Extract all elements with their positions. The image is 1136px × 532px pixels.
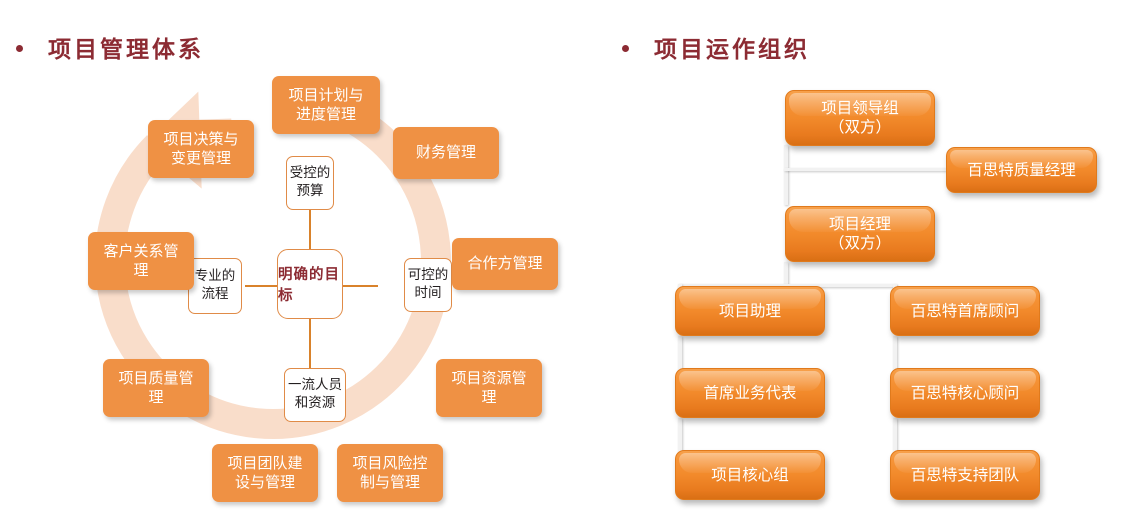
outer-node-resource[interactable]: 项目资源管 理 <box>436 359 542 417</box>
org-node-business-rep-label: 首席业务代表 <box>703 384 796 403</box>
outer-node-finance-label: 财务管理 <box>416 143 476 162</box>
org-node-chief-consultant[interactable]: 百思特首席顾问 <box>890 286 1040 336</box>
outer-node-risk[interactable]: 项目风险控 制与管理 <box>337 444 443 502</box>
org-node-core-consultant[interactable]: 百思特核心顾问 <box>890 368 1040 418</box>
connector-leadership-to-quality-manager <box>784 168 946 171</box>
outer-node-risk-label: 项目风险控 制与管理 <box>352 454 427 492</box>
org-node-quality-manager[interactable]: 百思特质量经理 <box>946 147 1097 193</box>
outer-node-decision-label: 项目决策与 变更管理 <box>163 130 238 168</box>
outer-node-partner-label: 合作方管理 <box>467 254 542 273</box>
org-node-project-manager[interactable]: 项目经理 （双方） <box>785 206 935 262</box>
connector-business-rep-to-core-team <box>678 418 682 454</box>
project-management-cycle-diagram: 明确的目标 受控的 预算 可控的 时间 一流人员 和资源 专业的 流程 项目计划… <box>0 0 568 532</box>
inner-node-people-label: 一流人员 和资源 <box>288 377 342 412</box>
outer-node-customer[interactable]: 客户关系管 理 <box>88 232 194 290</box>
slide-canvas: 项目管理体系 项目运作组织 明确的目标 受控的 预算 可控的 时间 一流人员 和… <box>0 0 1136 532</box>
outer-node-partner[interactable]: 合作方管理 <box>452 238 558 290</box>
outer-node-quality[interactable]: 项目质量管 理 <box>103 359 209 417</box>
connector-chief-to-core-consultant <box>893 336 897 372</box>
outer-node-customer-label: 客户关系管 理 <box>103 242 178 280</box>
outer-node-finance[interactable]: 财务管理 <box>393 127 499 179</box>
spoke-left <box>245 285 280 287</box>
project-organization-chart: 项目领导组 （双方） 百思特质量经理 项目经理 （双方） 项目助理 百思特首席顾… <box>568 0 1136 532</box>
spoke-right <box>340 285 378 287</box>
inner-node-budget-label: 受控的 预算 <box>290 165 331 200</box>
org-node-chief-consultant-label: 百思特首席顾问 <box>911 302 1020 321</box>
org-node-support-team[interactable]: 百思特支持团队 <box>890 450 1040 500</box>
inner-node-process-label: 专业的 流程 <box>195 268 236 303</box>
inner-node-time[interactable]: 可控的 时间 <box>404 258 452 312</box>
outer-node-team-label: 项目团队建 设与管理 <box>227 454 302 492</box>
org-node-project-manager-label: 项目经理 （双方） <box>829 215 891 253</box>
outer-node-decision[interactable]: 项目决策与 变更管理 <box>148 120 254 178</box>
inner-node-process[interactable]: 专业的 流程 <box>188 258 242 314</box>
connector-core-consultant-to-support-team <box>893 418 897 454</box>
org-node-support-team-label: 百思特支持团队 <box>911 466 1020 485</box>
org-node-core-consultant-label: 百思特核心顾问 <box>911 384 1020 403</box>
org-node-leadership-label: 项目领导组 （双方） <box>821 99 899 137</box>
org-node-core-team-label: 项目核心组 <box>711 466 789 485</box>
outer-node-quality-label: 项目质量管 理 <box>118 369 193 407</box>
org-node-assistant-label: 项目助理 <box>719 302 781 321</box>
inner-node-budget[interactable]: 受控的 预算 <box>286 156 334 210</box>
org-node-assistant[interactable]: 项目助理 <box>675 286 825 336</box>
outer-node-team[interactable]: 项目团队建 设与管理 <box>212 444 318 502</box>
org-node-business-rep[interactable]: 首席业务代表 <box>675 368 825 418</box>
outer-node-plan-schedule[interactable]: 项目计划与 进度管理 <box>272 76 380 134</box>
inner-node-time-label: 可控的 时间 <box>408 267 449 302</box>
org-node-core-team[interactable]: 项目核心组 <box>675 450 825 500</box>
spoke-bottom <box>309 316 311 374</box>
connector-assistant-to-business-rep <box>678 336 682 372</box>
outer-node-plan-schedule-label: 项目计划与 进度管理 <box>288 86 363 124</box>
outer-node-resource-label: 项目资源管 理 <box>451 369 526 407</box>
connector-pm-stem <box>784 262 788 286</box>
org-node-quality-manager-label: 百思特质量经理 <box>967 161 1076 180</box>
inner-node-people[interactable]: 一流人员 和资源 <box>284 368 346 422</box>
org-node-leadership[interactable]: 项目领导组 （双方） <box>785 90 935 146</box>
cycle-core-label: 明确的目标 <box>278 263 342 305</box>
connector-leadership-to-pm <box>784 145 788 205</box>
cycle-core-node[interactable]: 明确的目标 <box>277 249 343 319</box>
